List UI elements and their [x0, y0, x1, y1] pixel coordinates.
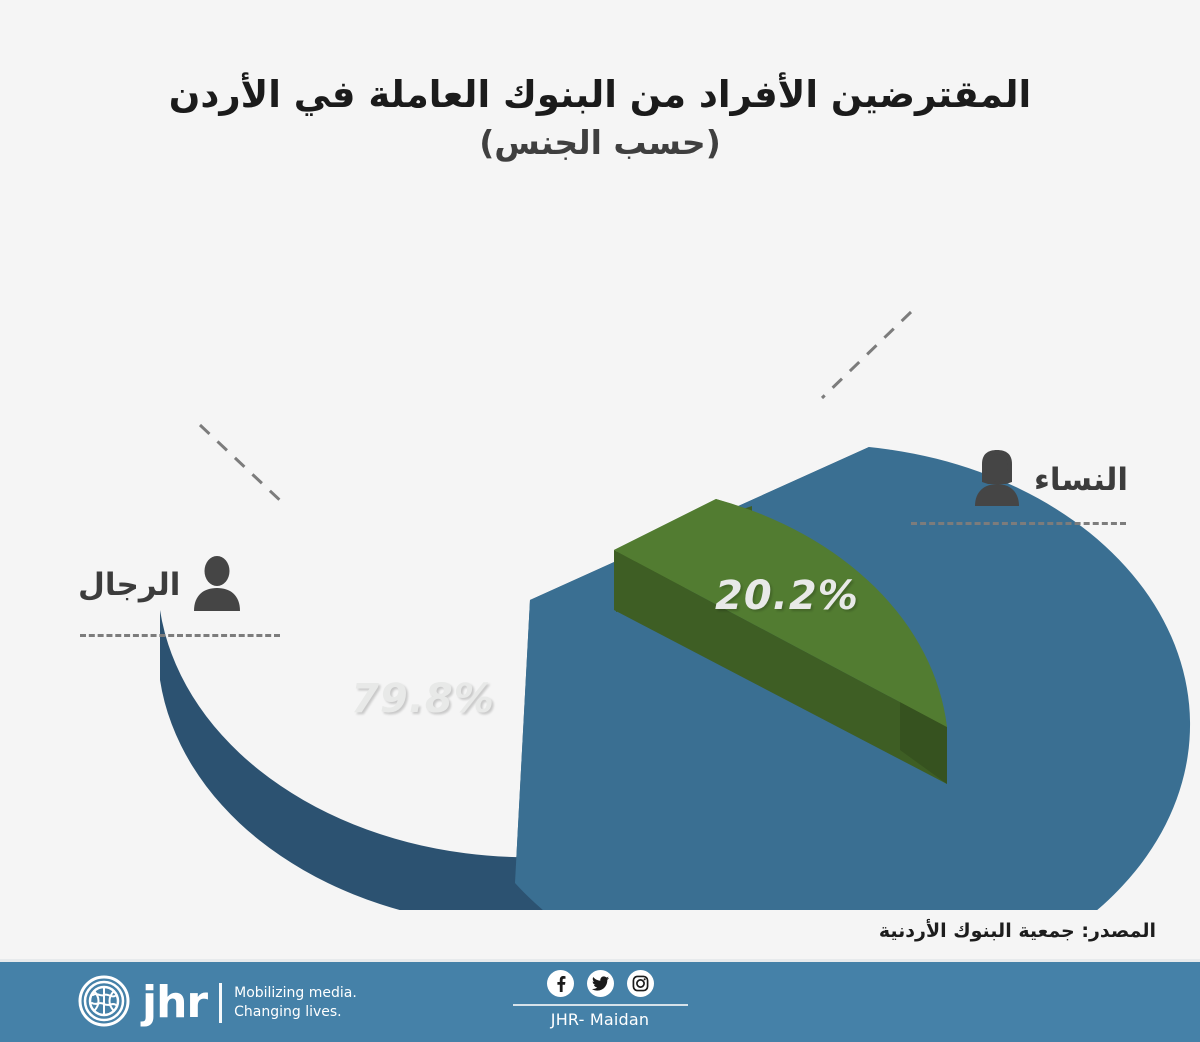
page-subtitle: (حسب الجنس): [0, 122, 1200, 165]
female-person-icon: [972, 450, 1022, 510]
social-handle: JHR- Maidan: [0, 1010, 1200, 1029]
men-percentage-label: 79.8%: [351, 676, 495, 722]
callout-women: النساء: [972, 450, 1128, 510]
title-block: المقترضين الأفراد من البنوك العاملة في ا…: [0, 72, 1200, 165]
social-row: [0, 970, 1200, 997]
source-note: المصدر: جمعية البنوك الأردنية: [879, 920, 1156, 942]
footer-bar: jhr Mobilizing media. Changing lives.: [0, 959, 1200, 1042]
male-person-icon: [192, 555, 242, 615]
page-title: المقترضين الأفراد من البنوك العاملة في ا…: [0, 72, 1200, 118]
infographic-canvas: المقترضين الأفراد من البنوك العاملة في ا…: [0, 0, 1200, 1042]
callout-women-label: النساء: [1034, 462, 1128, 498]
women-percentage-label: 20.2%: [715, 573, 859, 619]
women-leader-line: [911, 522, 1126, 525]
callout-men-label: الرجال: [78, 567, 180, 603]
pie-chart: 79.8% 20.2% الرجال النساء: [0, 210, 1200, 910]
callout-men: الرجال: [78, 555, 242, 615]
social-block: JHR- Maidan: [0, 970, 1200, 1029]
social-separator: [513, 1004, 688, 1006]
men-leader-line: [80, 634, 280, 637]
twitter-icon[interactable]: [587, 970, 614, 997]
facebook-icon[interactable]: [547, 970, 574, 997]
instagram-icon[interactable]: [627, 970, 654, 997]
